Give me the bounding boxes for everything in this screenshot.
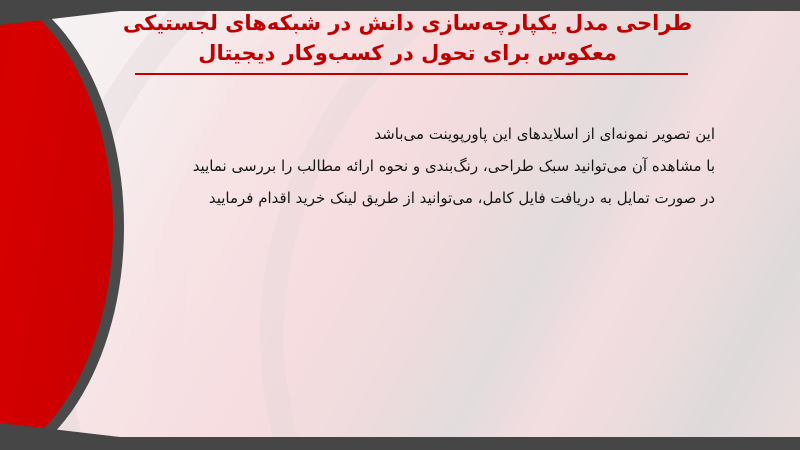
body-line-3: در صورت تمایل به دریافت فایل کامل، می‌تو… <box>85 182 715 214</box>
slide-title-line-2: معکوس برای تحول در کسب‌وکار دیجیتال <box>120 38 695 68</box>
frame-bottom-bar <box>0 437 800 450</box>
red-ellipse-decoration <box>0 0 130 450</box>
body-line-2: با مشاهده آن می‌توانید سبک طراحی، رنگ‌بن… <box>85 150 715 182</box>
slide-body-text: این تصویر نمونه‌ای از اسلایدهای این پاور… <box>85 118 715 214</box>
slide-title: طراحی مدل یکپارچه‌سازی دانش در شبکه‌های … <box>120 8 695 68</box>
frame-top-bar <box>0 0 800 11</box>
presentation-slide: طراحی مدل یکپارچه‌سازی دانش در شبکه‌های … <box>0 0 800 450</box>
red-ellipse-fill <box>0 0 113 450</box>
title-underline-rule <box>135 73 688 75</box>
body-line-1: این تصویر نمونه‌ای از اسلایدهای این پاور… <box>85 118 715 150</box>
slide-title-line-1: طراحی مدل یکپارچه‌سازی دانش در شبکه‌های … <box>120 8 695 38</box>
